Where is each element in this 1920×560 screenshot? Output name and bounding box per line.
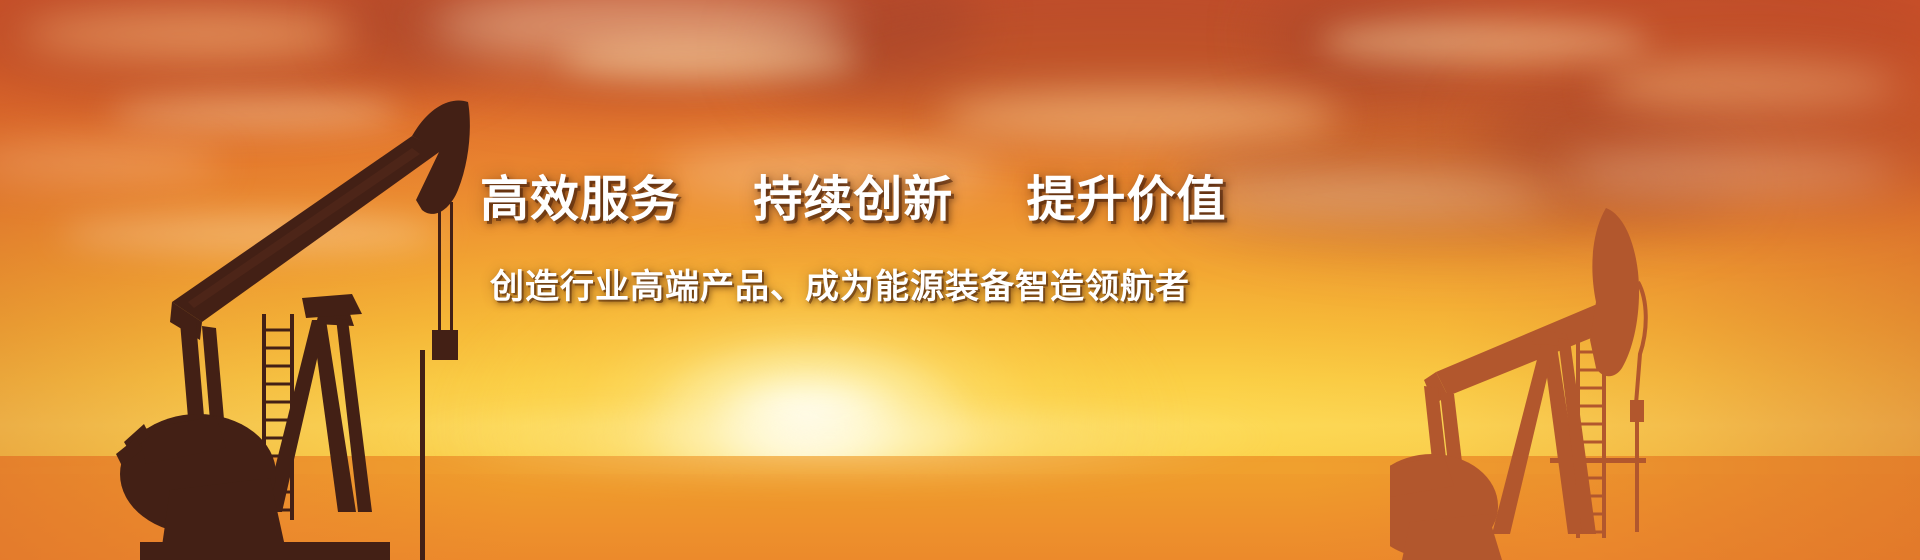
banner-text-block: 高效服务 持续创新 提升价值 创造行业高端产品、成为能源装备智造领航者 [480,170,1200,308]
banner-headline: 高效服务 持续创新 提升价值 [480,170,1200,231]
pump-jack-left [20,50,480,560]
hero-banner: 高效服务 持续创新 提升价值 创造行业高端产品、成为能源装备智造领航者 [0,0,1920,560]
headline-segment-1: 高效服务 [480,173,680,227]
pump-jack-right [1390,190,1810,560]
banner-subtitle: 创造行业高端产品、成为能源装备智造领航者 [480,259,1200,308]
headline-segment-2: 持续创新 [753,173,953,227]
headline-segment-3: 提升价值 [1027,173,1227,227]
